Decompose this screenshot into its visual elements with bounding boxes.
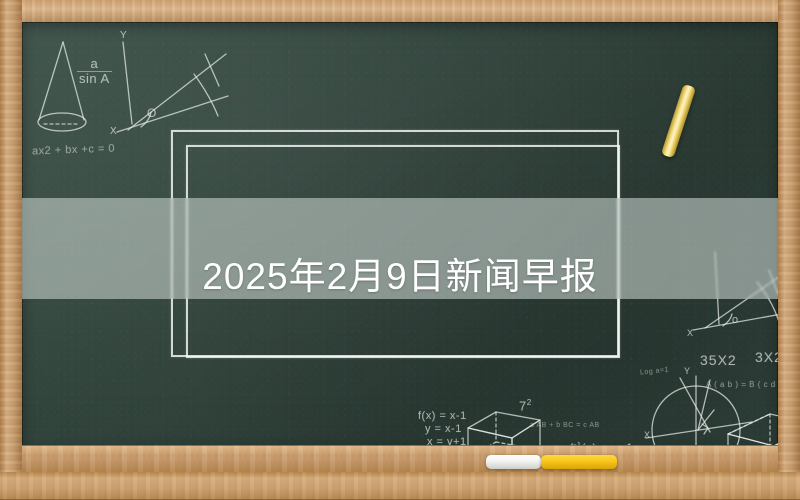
chalk-axis-label-x-topleft: X — [110, 126, 117, 137]
chalk-function-y: y = x-1 — [425, 423, 462, 435]
chalk-angle-label-topleft: O — [147, 106, 157, 120]
chalk-axis-label-y-topleft: Y — [120, 30, 127, 41]
chalk-eraser-white-icon — [486, 455, 541, 469]
frame-left-rail — [0, 0, 22, 500]
chalk-quadratic-equation: ax2 + bx +c = 0 — [32, 143, 115, 158]
blackboard-surface: a sin A Y X O ax2 + bx +c = 0 — [22, 22, 778, 446]
cube-drawing-right — [724, 400, 778, 446]
chalk-vector-note: a AB + b BC = c AB — [530, 422, 600, 429]
chalk-ledge — [22, 445, 778, 472]
chalk-axis-label-x-circle: X — [644, 430, 651, 440]
chalk-function-fx: f(x) = x-1 — [418, 410, 467, 422]
frame-top-rail — [0, 0, 800, 22]
chalk-seven-squared: 72 — [519, 398, 532, 413]
frame-bottom-rail — [0, 472, 800, 500]
chalk-multiplication-3x2: 3X2 — [755, 349, 778, 365]
chalk-axis-label-x-right: X — [687, 328, 694, 338]
chalk-multiplication-35x2: 35X2 — [700, 352, 737, 368]
chalk-stick-yellow-icon — [541, 455, 617, 469]
chalkboard-poster: a sin A Y X O ax2 + bx +c = 0 — [0, 0, 800, 500]
chalk-axis-label-y-circle: Y — [684, 366, 691, 376]
frame-right-rail — [778, 0, 800, 500]
page-title: 2025年2月9日新闻早报 — [22, 223, 778, 324]
cone-drawing — [30, 36, 110, 141]
seven-exponent: 2 — [527, 398, 532, 407]
seven-base: 7 — [519, 398, 527, 413]
